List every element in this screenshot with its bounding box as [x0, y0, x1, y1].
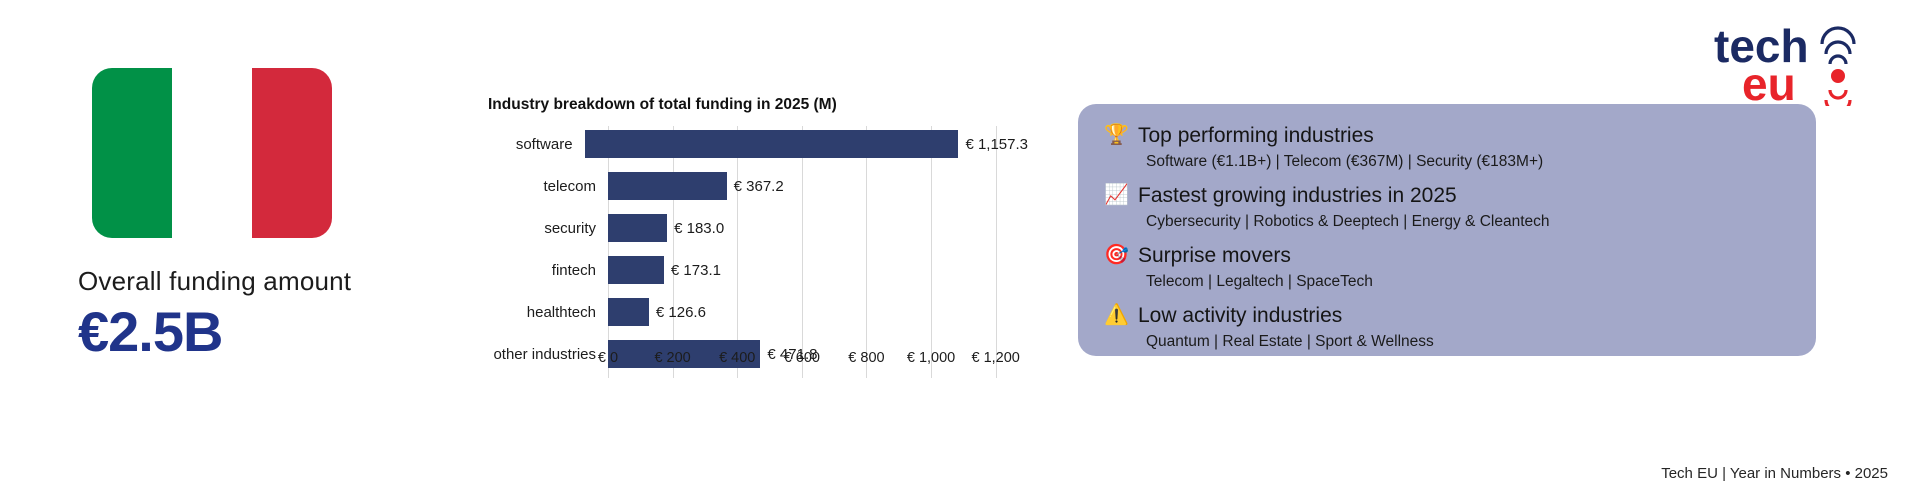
tech-eu-logo: tech eu	[1702, 14, 1892, 106]
insight-item: ⚠️Low activity industriesQuantum | Real …	[1104, 302, 1790, 354]
chart-plot-area: software€ 1,157.3telecom€ 367.2security€…	[488, 126, 1028, 378]
chart-bar-wrap: € 183.0	[608, 210, 1028, 246]
logo-arcs-red	[1826, 90, 1850, 106]
chart-bar-row: software€ 1,157.3	[488, 126, 1028, 162]
chart-bar-value-label: € 1,157.3	[965, 136, 1028, 153]
insight-detail: Quantum | Real Estate | Sport & Wellness	[1146, 329, 1790, 354]
chart-bar-value-label: € 173.1	[671, 262, 721, 279]
chart-title: Industry breakdown of total funding in 2…	[488, 96, 1028, 114]
flag-stripe-white	[172, 68, 252, 238]
logo-arcs	[1822, 28, 1854, 64]
insight-detail: Cybersecurity | Robotics & Deeptech | En…	[1146, 209, 1790, 234]
chart-x-tick-label: € 400	[719, 350, 755, 366]
insight-heading: Surprise movers	[1138, 242, 1790, 269]
chart-x-tick-label: € 200	[654, 350, 690, 366]
flag-stripe-green	[92, 68, 172, 238]
insight-heading: Fastest growing industries in 2025	[1138, 182, 1790, 209]
insight-text: Top performing industriesSoftware (€1.1B…	[1138, 122, 1790, 174]
chart-x-tick-label: € 600	[784, 350, 820, 366]
insight-text: Low activity industriesQuantum | Real Es…	[1138, 302, 1790, 354]
insight-item: 🏆Top performing industriesSoftware (€1.1…	[1104, 122, 1790, 174]
insight-detail: Telecom | Legaltech | SpaceTech	[1146, 269, 1790, 294]
footer-caption: Tech EU | Year in Numbers • 2025	[1661, 465, 1888, 482]
chart-bar-wrap: € 173.1	[608, 252, 1028, 288]
chart-bar[interactable]	[608, 214, 667, 242]
chart-increasing-icon: 📈	[1104, 182, 1138, 208]
chart-bar[interactable]	[608, 298, 649, 326]
chart-category-label: healthtech	[488, 304, 608, 321]
chart-x-tick-label: € 800	[848, 350, 884, 366]
chart-bar-wrap: € 367.2	[608, 168, 1028, 204]
trophy-icon: 🏆	[1104, 122, 1138, 148]
chart-x-tick-label: € 0	[598, 350, 618, 366]
chart-x-axis: € 0€ 200€ 400€ 600€ 800€ 1,000€ 1,200	[608, 348, 1028, 374]
chart-bar-row: telecom€ 367.2	[488, 168, 1028, 204]
insight-detail: Software (€1.1B+) | Telecom (€367M) | Se…	[1146, 149, 1790, 174]
insight-heading: Top performing industries	[1138, 122, 1790, 149]
warning-icon: ⚠️	[1104, 302, 1138, 328]
chart-category-label: other industries	[488, 346, 608, 363]
chart-category-label: fintech	[488, 262, 608, 279]
chart-category-label: security	[488, 220, 608, 237]
chart-x-tick-label: € 1,000	[907, 350, 955, 366]
target-icon: 🎯	[1104, 242, 1138, 268]
overall-funding-label: Overall funding amount	[78, 266, 408, 297]
industry-breakdown-chart: Industry breakdown of total funding in 2…	[488, 96, 1028, 416]
chart-bar-row: fintech€ 173.1	[488, 252, 1028, 288]
insight-item: 📈Fastest growing industries in 2025Cyber…	[1104, 182, 1790, 234]
italy-flag	[92, 68, 332, 238]
chart-bar-row: healthtech€ 126.6	[488, 294, 1028, 330]
flag-stripe-red	[252, 68, 332, 238]
chart-bar-row: security€ 183.0	[488, 210, 1028, 246]
insight-item: 🎯Surprise moversTelecom | Legaltech | Sp…	[1104, 242, 1790, 294]
chart-bar-wrap: € 1,157.3	[585, 126, 1028, 162]
logo-dot	[1831, 69, 1845, 83]
chart-category-label: telecom	[488, 178, 608, 195]
chart-x-tick-label: € 1,200	[971, 350, 1019, 366]
chart-bar-wrap: € 126.6	[608, 294, 1028, 330]
logo-text-eu: eu	[1742, 58, 1796, 106]
insight-heading: Low activity industries	[1138, 302, 1790, 329]
overall-funding-block: Overall funding amount €2.5B	[78, 68, 408, 362]
chart-bar[interactable]	[585, 130, 959, 158]
insights-panel: 🏆Top performing industriesSoftware (€1.1…	[1078, 104, 1816, 356]
chart-bar[interactable]	[608, 256, 664, 284]
chart-bar[interactable]	[608, 172, 727, 200]
overall-funding-value: €2.5B	[78, 303, 408, 362]
tech-eu-logo-svg: tech eu	[1702, 14, 1892, 106]
insight-text: Fastest growing industries in 2025Cybers…	[1138, 182, 1790, 234]
chart-bar-value-label: € 126.6	[656, 304, 706, 321]
chart-bar-value-label: € 367.2	[734, 178, 784, 195]
insights-list: 🏆Top performing industriesSoftware (€1.1…	[1104, 122, 1790, 354]
chart-category-label: software	[488, 136, 585, 153]
chart-bar-value-label: € 183.0	[674, 220, 724, 237]
insight-text: Surprise moversTelecom | Legaltech | Spa…	[1138, 242, 1790, 294]
